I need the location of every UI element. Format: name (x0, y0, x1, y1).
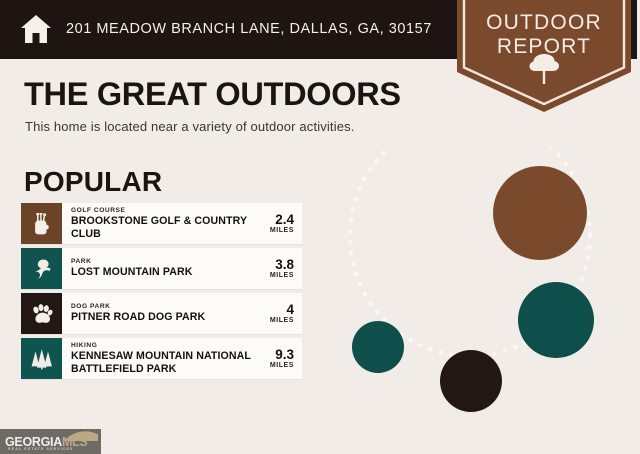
list-item-icon-box (21, 338, 62, 379)
distance-unit: MILES (256, 317, 294, 324)
list-item-text: GOLF COURSE BROOKSTONE GOLF & COUNTRY CL… (71, 207, 252, 240)
distance-unit: MILES (256, 362, 294, 369)
property-address: 201 MEADOW BRANCH LANE, DALLAS, GA, 3015… (66, 21, 432, 37)
pine-trees-icon (29, 348, 55, 370)
list-item-icon-box (21, 293, 62, 334)
park-tree-icon (30, 258, 54, 280)
list-item-category: PARK (71, 258, 192, 266)
within-10-miles-diagram: WITHIN 10 MILES 9 GOLF COURSES 5 PARKS 1… (320, 148, 640, 433)
bubble-golf-courses (493, 166, 587, 260)
list-item-name: LOST MOUNTAIN PARK (71, 266, 192, 278)
distance-unit: MILES (256, 272, 294, 279)
distance-unit: MILES (256, 227, 294, 234)
list-item-distance: 4 MILES (252, 303, 294, 324)
list-item-text: DOG PARK PITNER ROAD DOG PARK (71, 303, 205, 324)
list-item-distance: 2.4 MILES (252, 213, 294, 234)
georgia-mls-logo: GEORGIA MLS REAL ESTATE SERVICES (0, 429, 101, 454)
list-item-name: PITNER ROAD DOG PARK (71, 311, 205, 323)
popular-heading: POPULAR (24, 166, 162, 198)
list-item[interactable]: HIKING KENNESAW MOUNTAIN NATIONAL BATTLE… (21, 338, 302, 379)
list-item-body: DOG PARK PITNER ROAD DOG PARK 4 MILES (62, 293, 302, 334)
paw-print-icon (30, 303, 54, 325)
list-item-category: GOLF COURSE (71, 207, 252, 215)
list-item[interactable]: PARK LOST MOUNTAIN PARK 3.8 MILES (21, 248, 302, 289)
golf-bag-icon (32, 213, 52, 235)
list-item-text: HIKING KENNESAW MOUNTAIN NATIONAL BATTLE… (71, 342, 252, 375)
outdoor-report-page: 201 MEADOW BRANCH LANE, DALLAS, GA, 3015… (0, 0, 640, 454)
page-subtitle: This home is located near a variety of o… (25, 119, 355, 134)
list-item[interactable]: DOG PARK PITNER ROAD DOG PARK 4 MILES (21, 293, 302, 334)
list-item-icon-box (21, 203, 62, 244)
list-item[interactable]: GOLF COURSE BROOKSTONE GOLF & COUNTRY CL… (21, 203, 302, 244)
list-item-name: KENNESAW MOUNTAIN NATIONAL BATTLEFIELD P… (71, 350, 252, 375)
page-title: THE GREAT OUTDOORS (24, 76, 401, 113)
distance-value: 2.4 (256, 213, 294, 227)
distance-value: 9.3 (256, 348, 294, 362)
bubble-hiking (352, 321, 404, 373)
bubble-dog-park (440, 350, 502, 412)
list-item-body: HIKING KENNESAW MOUNTAIN NATIONAL BATTLE… (62, 338, 302, 379)
popular-list: GOLF COURSE BROOKSTONE GOLF & COUNTRY CL… (21, 203, 302, 383)
header-content: 201 MEADOW BRANCH LANE, DALLAS, GA, 3015… (20, 14, 432, 44)
list-item-text: PARK LOST MOUNTAIN PARK (71, 258, 192, 279)
logo-tagline: REAL ESTATE SERVICES (8, 447, 73, 451)
list-item-body: GOLF COURSE BROOKSTONE GOLF & COUNTRY CL… (62, 203, 302, 244)
list-item-name: BROOKSTONE GOLF & COUNTRY CLUB (71, 215, 252, 240)
list-item-body: PARK LOST MOUNTAIN PARK 3.8 MILES (62, 248, 302, 289)
bubble-parks (518, 282, 594, 358)
distance-value: 3.8 (256, 258, 294, 272)
home-icon (20, 14, 52, 44)
distance-value: 4 (256, 303, 294, 317)
outdoor-report-badge: OUTDOOR REPORT (457, 0, 631, 112)
list-item-icon-box (21, 248, 62, 289)
list-item-category: DOG PARK (71, 303, 205, 311)
list-item-distance: 3.8 MILES (252, 258, 294, 279)
list-item-category: HIKING (71, 342, 252, 350)
list-item-distance: 9.3 MILES (252, 348, 294, 369)
